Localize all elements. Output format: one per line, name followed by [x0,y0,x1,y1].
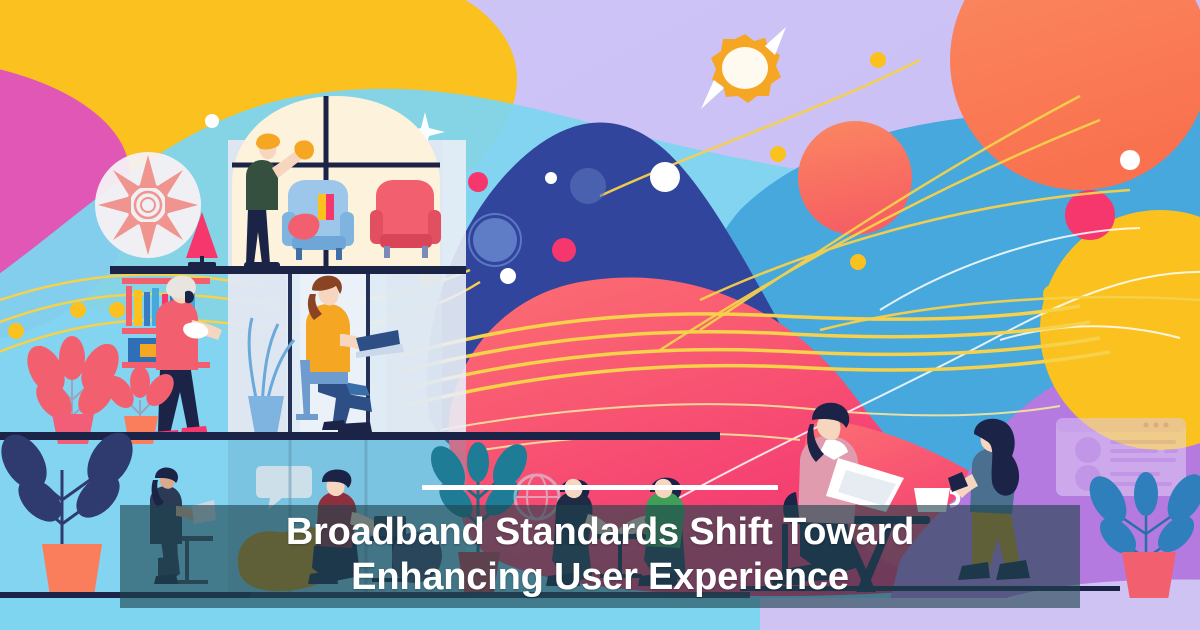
strand-node-2 [70,302,86,318]
mandala-icon [95,152,201,258]
dot-blue-soft [570,168,606,204]
banner-image: Broadband Standards Shift Toward Enhanci… [0,0,1200,630]
dot-blue-halo [473,218,517,262]
page-title: Broadband Standards Shift Toward Enhanci… [286,510,914,600]
line-node-yellow-c [850,254,866,270]
strand-node-3 [109,302,125,318]
browser-dot-3 [1164,423,1169,428]
floor-slab-second [0,432,466,440]
browser-dot-1 [1144,423,1149,428]
line-node-yellow-b [770,146,786,162]
title-overlay-band: Broadband Standards Shift Toward Enhanci… [120,505,1080,608]
line-node-yellow-a [870,52,886,68]
dot-pink-2 [552,238,576,262]
floor-slab-top [110,266,466,274]
orbit-node-yellow-1 [1043,285,1061,303]
floor-slab-second-right [466,432,720,440]
strand-node-1 [8,323,24,339]
browser-card-mockup [1056,418,1186,496]
card-avatar-1 [1075,437,1101,463]
dot-white-1 [205,114,219,128]
dot-white-2 [545,172,557,184]
dot-white-3 [650,162,680,192]
orbit-node-white [1120,150,1140,170]
coral-circle-small [798,121,912,235]
dot-pink-1 [468,172,488,192]
browser-dot-2 [1154,423,1159,428]
accent-rule [422,485,778,490]
dot-white-4 [500,268,516,284]
